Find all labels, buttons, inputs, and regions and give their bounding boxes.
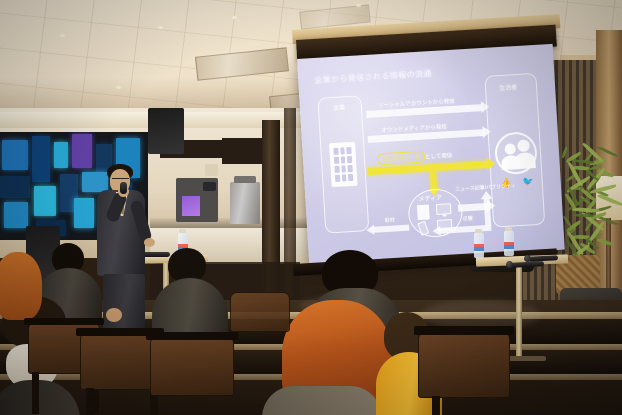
chair-leg bbox=[32, 372, 39, 414]
flow-label-interview: 取材 bbox=[385, 216, 395, 224]
monitor-stand bbox=[442, 214, 446, 216]
microphone-head bbox=[524, 255, 531, 262]
recessed-downlight bbox=[232, 16, 237, 19]
slide-node-company-label: 企業 bbox=[333, 102, 346, 112]
chair-back bbox=[230, 292, 290, 332]
audience-shoulders bbox=[262, 386, 382, 415]
coffee-machine-controls bbox=[203, 182, 216, 191]
flow-label-response: 反響 bbox=[463, 215, 473, 223]
handheld-microphone-icon bbox=[120, 182, 127, 194]
cup-stack bbox=[205, 164, 218, 176]
chair-back bbox=[418, 332, 510, 398]
person-head bbox=[517, 139, 530, 152]
flow-label-press-release: として発信 bbox=[425, 151, 453, 161]
slide-surface: 企業から発信される情報の流通 企業 生活者 👍 🐦 ソーシャルアカウントか bbox=[297, 44, 565, 265]
recessed-downlight bbox=[356, 4, 361, 7]
chair-back bbox=[80, 332, 160, 390]
audience-hair bbox=[168, 248, 206, 282]
bottle-label bbox=[474, 244, 484, 251]
microphone-head bbox=[506, 261, 513, 268]
bottle-cap bbox=[179, 229, 186, 233]
wall-panel-tile bbox=[34, 186, 56, 216]
chair-rail bbox=[24, 318, 104, 325]
coffee-machine-display bbox=[182, 196, 200, 216]
wall-panel-tile bbox=[4, 202, 28, 228]
building-windows bbox=[333, 147, 353, 182]
presenter-hand-gesture bbox=[144, 238, 155, 247]
screenshot-root: 企業から発信される情報の流通 企業 生活者 👍 🐦 ソーシャルアカウントか bbox=[0, 0, 622, 415]
bottle-label bbox=[504, 242, 514, 249]
recessed-downlight bbox=[158, 26, 163, 29]
bottle-cap bbox=[475, 229, 482, 233]
office-building-icon bbox=[329, 142, 358, 187]
chair-leg bbox=[86, 388, 94, 415]
eyeglasses-icon bbox=[112, 178, 129, 182]
side-table-leg bbox=[516, 264, 522, 359]
wall-panel-tile bbox=[32, 136, 50, 182]
projection-screen: 企業から発信される情報の流通 企業 生活者 👍 🐦 ソーシャルアカウントか bbox=[297, 44, 565, 265]
flow-arrow-to-media bbox=[430, 171, 437, 189]
ceiling-speaker bbox=[148, 108, 184, 154]
beverage-urn-icon bbox=[230, 182, 260, 224]
wall-panel-tile bbox=[82, 172, 108, 192]
urn-lid bbox=[234, 176, 256, 183]
bottle-cap bbox=[505, 227, 512, 231]
chair-rail bbox=[414, 326, 514, 335]
monitor-icon bbox=[436, 203, 452, 215]
wall-panel-tile bbox=[0, 176, 30, 198]
wall-panel-tile bbox=[2, 140, 28, 170]
person-body bbox=[514, 152, 536, 169]
slide-node-consumer-label: 生活者 bbox=[499, 82, 518, 92]
media-node-label: メディア bbox=[418, 193, 442, 203]
audience-hand bbox=[106, 308, 122, 322]
recessed-downlight bbox=[60, 34, 65, 37]
chair-back bbox=[150, 336, 234, 396]
audience-hair-auburn bbox=[0, 252, 42, 320]
wall-panel-tile bbox=[54, 142, 68, 168]
wall-panel-tile bbox=[72, 134, 92, 168]
wall-panel-tile bbox=[74, 198, 94, 228]
chair-leg bbox=[432, 396, 440, 415]
chair-rail bbox=[146, 332, 238, 340]
person-head bbox=[504, 143, 516, 155]
twitter-bird-icon: 🐦 bbox=[522, 177, 534, 187]
newspaper-icon bbox=[417, 204, 430, 220]
